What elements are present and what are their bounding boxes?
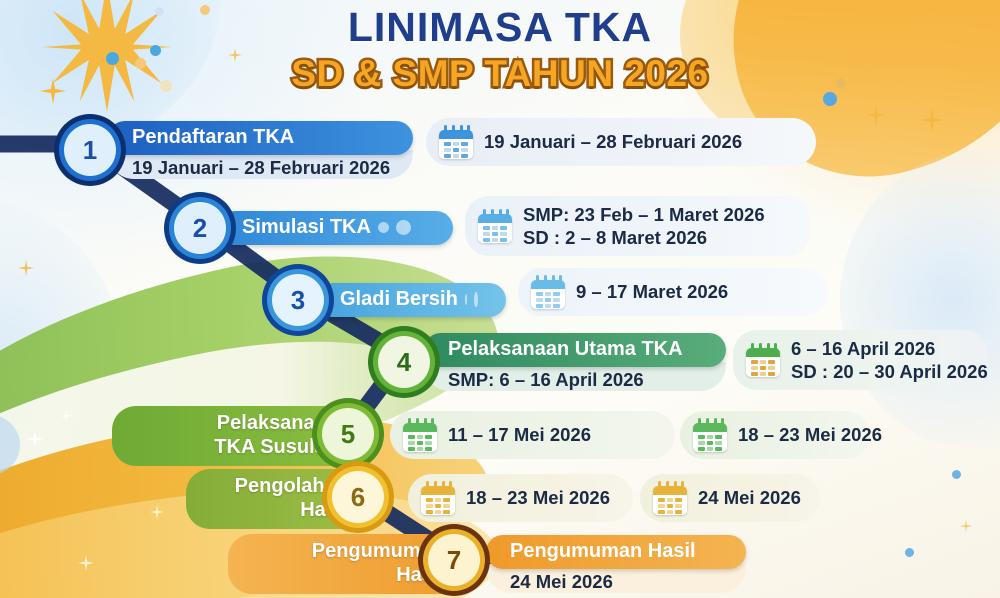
header: LINIMASA TKA SD & SMP TAHUN 2026 bbox=[0, 0, 1000, 95]
decor-dot bbox=[465, 294, 468, 305]
capsule-date-line: 18 – 23 Mei 2026 bbox=[466, 486, 610, 509]
calendar-icon bbox=[531, 275, 565, 309]
timeline-row-3: Gladi Bersih39 – 17 Maret 2026 bbox=[0, 268, 1000, 332]
decor-dot bbox=[474, 292, 478, 307]
timeline-title[interactable]: Pendaftaran TKA bbox=[108, 121, 413, 155]
calendar-icon bbox=[746, 343, 780, 377]
timeline-title-text: Pelaksanaan bbox=[126, 412, 338, 436]
timeline-row-5: PelaksanaanTKA Susulan511 – 17 Mei 20261… bbox=[0, 405, 1000, 467]
timeline-label-2: Simulasi TKA bbox=[218, 211, 453, 245]
timeline-badge-2[interactable]: 2 bbox=[174, 202, 226, 254]
timeline-badge-6[interactable]: 6 bbox=[332, 471, 384, 523]
timeline-badge-number: 6 bbox=[351, 482, 365, 513]
timeline-label-3: Gladi Bersih bbox=[316, 283, 506, 317]
timeline-title-text: Simulasi TKA bbox=[242, 216, 371, 239]
timeline-result-title-text: Pengumuman Hasil bbox=[510, 540, 696, 563]
timeline-capsule-6-b[interactable]: 24 Mei 2026 bbox=[640, 474, 820, 522]
timeline-capsule-3[interactable]: 9 – 17 Maret 2026 bbox=[518, 268, 828, 316]
timeline-subtitle: SMP: 6 – 16 April 2026 bbox=[424, 367, 726, 391]
timeline-badge-7[interactable]: 7 bbox=[428, 534, 480, 586]
timeline-row-7: PengumumanHasil7Pengumuman Hasil24 Mei 2… bbox=[0, 530, 1000, 598]
timeline-capsule-6-a[interactable]: 18 – 23 Mei 2026 bbox=[408, 474, 633, 522]
capsule-date-line: 6 – 16 April 2026 bbox=[791, 337, 988, 360]
timeline-badge-number: 5 bbox=[341, 419, 355, 450]
timeline-result-subtitle: 24 Mei 2026 bbox=[486, 569, 746, 593]
decor-dot bbox=[378, 222, 389, 233]
timeline-title-text: Gladi Bersih bbox=[340, 288, 458, 311]
timeline-badge-number: 3 bbox=[291, 285, 305, 316]
timeline-title[interactable]: Pelaksanaan Utama TKA bbox=[424, 333, 726, 367]
timeline-title-text: TKA Susulan bbox=[126, 436, 338, 460]
timeline-badge-number: 1 bbox=[83, 135, 97, 166]
calendar-icon bbox=[403, 418, 437, 452]
timeline-capsule-5-a[interactable]: 11 – 17 Mei 2026 bbox=[390, 411, 675, 459]
calendar-icon bbox=[439, 125, 473, 159]
timeline-result-title[interactable]: Pengumuman Hasil bbox=[486, 535, 746, 569]
timeline-badge-5[interactable]: 5 bbox=[322, 408, 374, 460]
timeline-row-6: PengolahanHasil618 – 23 Mei 202624 Mei 2… bbox=[0, 468, 1000, 530]
calendar-icon bbox=[478, 209, 512, 243]
timeline-badge-number: 7 bbox=[447, 545, 461, 576]
capsule-date-line: SD : 20 – 30 April 2026 bbox=[791, 360, 988, 383]
timeline-result-block: Pengumuman Hasil24 Mei 2026 bbox=[486, 535, 746, 593]
timeline-row-2: Simulasi TKA2SMP: 23 Feb – 1 Maret 2026S… bbox=[0, 196, 1000, 260]
timeline-capsule-2[interactable]: SMP: 23 Feb – 1 Maret 2026SD : 2 – 8 Mar… bbox=[465, 196, 810, 256]
timeline-capsule-1[interactable]: 19 Januari – 28 Februari 2026 bbox=[426, 118, 816, 166]
capsule-date-line: SMP: 23 Feb – 1 Maret 2026 bbox=[523, 203, 765, 226]
timeline-badge-1[interactable]: 1 bbox=[64, 124, 116, 176]
calendar-icon bbox=[421, 481, 455, 515]
timeline-title-text: Pelaksanaan Utama TKA bbox=[448, 338, 683, 361]
timeline-capsule-4[interactable]: 6 – 16 April 2026SD : 20 – 30 April 2026 bbox=[733, 330, 988, 390]
timeline-title-text: Pendaftaran TKA bbox=[132, 126, 294, 149]
capsule-date-line: 19 Januari – 28 Februari 2026 bbox=[484, 130, 742, 153]
calendar-icon bbox=[693, 418, 727, 452]
timeline-title[interactable]: Gladi Bersih bbox=[316, 283, 506, 317]
capsule-date-line: 18 – 23 Mei 2026 bbox=[738, 423, 882, 446]
decor-dot bbox=[396, 220, 411, 235]
timeline-badge-3[interactable]: 3 bbox=[272, 274, 324, 326]
page-subtitle: SD & SMP TAHUN 2026 bbox=[291, 53, 708, 95]
timeline-title-text: Pengolahan bbox=[200, 475, 348, 499]
page-title: LINIMASA TKA bbox=[0, 4, 1000, 51]
timeline-subtitle: 19 Januari – 28 Februari 2026 bbox=[108, 155, 413, 179]
capsule-date-line: 9 – 17 Maret 2026 bbox=[576, 280, 728, 303]
timeline-label-4: Pelaksanaan Utama TKASMP: 6 – 16 April 2… bbox=[424, 333, 726, 391]
timeline-badge-number: 4 bbox=[397, 347, 411, 378]
timeline-row-4: Pelaksanaan Utama TKASMP: 6 – 16 April 2… bbox=[0, 330, 1000, 394]
infographic-canvas: LINIMASA TKA SD & SMP TAHUN 2026 Pendaft… bbox=[0, 0, 1000, 598]
timeline-row-1: Pendaftaran TKA19 Januari – 28 Februari … bbox=[0, 118, 1000, 182]
timeline-title-text: Pengumuman bbox=[242, 540, 444, 564]
timeline-title[interactable]: Simulasi TKA bbox=[218, 211, 453, 245]
timeline-badge-4[interactable]: 4 bbox=[378, 336, 430, 388]
timeline-label-1: Pendaftaran TKA19 Januari – 28 Februari … bbox=[108, 121, 413, 179]
calendar-icon bbox=[653, 481, 687, 515]
timeline-title-text: Hasil bbox=[200, 499, 348, 523]
capsule-date-line: 24 Mei 2026 bbox=[698, 486, 801, 509]
timeline-badge-number: 2 bbox=[193, 213, 207, 244]
timeline-capsule-5-b[interactable]: 18 – 23 Mei 2026 bbox=[680, 411, 870, 459]
capsule-date-line: 11 – 17 Mei 2026 bbox=[448, 423, 591, 446]
timeline-title-text: Hasil bbox=[242, 564, 444, 588]
capsule-date-line: SD : 2 – 8 Maret 2026 bbox=[523, 226, 765, 249]
